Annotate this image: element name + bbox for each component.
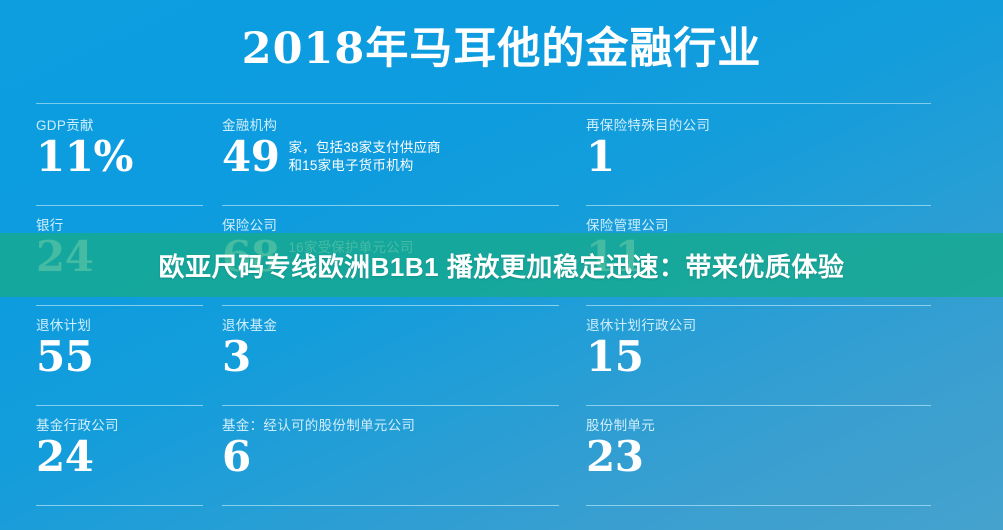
stat-cell-gdp-contribution: GDP贡献 11% xyxy=(36,112,221,212)
stat-divider xyxy=(586,505,931,506)
stat-label: 保险公司 xyxy=(222,212,577,234)
stat-cell-retirement-funds: 退休基金 3 xyxy=(222,312,577,412)
stat-cell-reinsurance-spv: 再保险特殊目的公司 1 xyxy=(586,112,931,212)
stat-value: 49 xyxy=(222,135,279,179)
stat-value: 1 xyxy=(586,135,615,179)
stat-divider xyxy=(222,305,559,306)
stat-value-line: 55 xyxy=(36,335,221,379)
stat-value-line: 15 xyxy=(586,335,931,379)
stat-label: 退休基金 xyxy=(222,312,577,334)
stat-divider xyxy=(222,205,559,206)
stat-divider xyxy=(36,505,203,506)
title-zone: 2018年马耳他的金融行业 xyxy=(0,0,1003,112)
stat-cell-incorporated-cells: 股份制单元 23 xyxy=(586,412,931,512)
stat-divider xyxy=(36,205,203,206)
stat-label: 退休计划行政公司 xyxy=(586,312,931,334)
stat-row: GDP贡献 11% 金融机构 49 家，包括38家支付供应商 和15家电子货币机… xyxy=(0,112,1003,212)
stat-value: 3 xyxy=(222,335,251,379)
stat-divider xyxy=(36,305,203,306)
stat-label: 金融机构 xyxy=(222,112,577,134)
stat-grid: GDP贡献 11% 金融机构 49 家，包括38家支付供应商 和15家电子货币机… xyxy=(0,112,1003,530)
stat-value: 15 xyxy=(586,335,643,379)
promo-banner-overlay: 欧亚尺码专线欧洲B1B1 播放更加稳定迅速：带来优质体验 xyxy=(0,233,1003,297)
stat-label: 再保险特殊目的公司 xyxy=(586,112,931,134)
stat-value: 24 xyxy=(36,435,93,479)
title-divider xyxy=(36,103,931,104)
stat-cell-retirement-schemes: 退休计划 55 xyxy=(36,312,221,412)
stat-divider xyxy=(586,305,931,306)
stat-value-line: 6 xyxy=(222,435,577,479)
stat-cell-recognised-incorporated-cell-companies: 基金：经认可的股份制单元公司 6 xyxy=(222,412,577,512)
stat-row: 基金行政公司 24 基金：经认可的股份制单元公司 6 股份制单元 23 xyxy=(0,412,1003,512)
stat-label: 基金：经认可的股份制单元公司 xyxy=(222,412,577,434)
stat-value-line: 23 xyxy=(586,435,931,479)
infographic-poster: 2018年马耳他的金融行业 GDP贡献 11% 金融机构 49 家，包括38家支… xyxy=(0,0,1003,530)
stat-note: 家，包括38家支付供应商 和15家电子货币机构 xyxy=(288,135,440,175)
stat-value: 6 xyxy=(222,435,251,479)
stat-value: 23 xyxy=(586,435,643,479)
stat-label: 退休计划 xyxy=(36,312,221,334)
stat-divider xyxy=(222,505,559,506)
stat-label: 股份制单元 xyxy=(586,412,931,434)
stat-cell-financial-institutions: 金融机构 49 家，包括38家支付供应商 和15家电子货币机构 xyxy=(222,112,577,212)
page-title: 2018年马耳他的金融行业 xyxy=(0,28,1003,71)
stat-label: 银行 xyxy=(36,212,221,234)
promo-banner-text: 欧亚尺码专线欧洲B1B1 播放更加稳定迅速：带来优质体验 xyxy=(159,247,845,284)
stat-cell-fund-administrators: 基金行政公司 24 xyxy=(36,412,221,512)
stat-value: 55 xyxy=(36,335,93,379)
stat-cell-retirement-scheme-administrators: 退休计划行政公司 15 xyxy=(586,312,931,412)
stat-label: 基金行政公司 xyxy=(36,412,221,434)
stat-value-line: 24 xyxy=(36,435,221,479)
stat-label: 保险管理公司 xyxy=(586,212,931,234)
stat-label: GDP贡献 xyxy=(36,112,221,134)
stat-value: 11% xyxy=(36,135,133,179)
stat-value-line: 49 家，包括38家支付供应商 和15家电子货币机构 xyxy=(222,135,577,179)
stat-divider xyxy=(36,405,203,406)
stat-value-line: 1 xyxy=(586,135,931,179)
stat-divider xyxy=(586,205,931,206)
stat-value-line: 3 xyxy=(222,335,577,379)
stat-row: 退休计划 55 退休基金 3 退休计划行政公司 15 xyxy=(0,312,1003,412)
stat-divider xyxy=(222,405,559,406)
stat-divider xyxy=(586,405,931,406)
stat-value-line: 11% xyxy=(36,135,221,179)
